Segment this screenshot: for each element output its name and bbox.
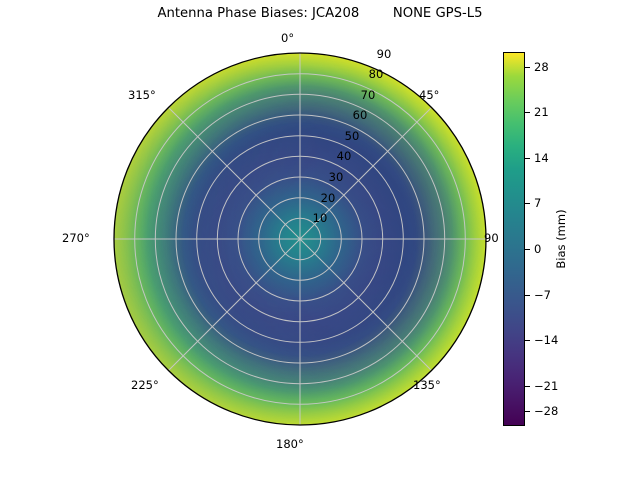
colorbar-label-neg7: −7 bbox=[534, 288, 551, 302]
colorbar-tick-28 bbox=[525, 67, 530, 68]
colorbar-label-14: 14 bbox=[534, 151, 549, 165]
radial-tick-30: 30 bbox=[329, 170, 344, 184]
radial-tick-70: 70 bbox=[361, 88, 376, 102]
radial-tick-80: 80 bbox=[369, 67, 384, 81]
radial-tick-40: 40 bbox=[337, 149, 352, 163]
polar-grid bbox=[114, 53, 486, 425]
colorbar[interactable]: 28 21 14 7 0 −7 −14 −21 −28 Bias (mm) bbox=[503, 52, 599, 426]
radial-tick-10: 10 bbox=[313, 211, 328, 225]
colorbar-gradient bbox=[503, 52, 525, 426]
radial-tick-20: 20 bbox=[321, 191, 336, 205]
colorbar-tick-neg14 bbox=[525, 340, 530, 341]
colorbar-axis-label: Bias (mm) bbox=[554, 209, 568, 268]
colorbar-label-7: 7 bbox=[534, 196, 541, 210]
colorbar-tick-7 bbox=[525, 203, 530, 204]
azimuth-tick-45: 45° bbox=[419, 88, 439, 102]
radial-tick-50: 50 bbox=[345, 129, 360, 143]
azimuth-tick-225: 225° bbox=[131, 378, 159, 392]
colorbar-tick-0 bbox=[525, 249, 530, 250]
polar-axes[interactable]: 10 20 30 40 50 60 70 80 90 bbox=[113, 52, 487, 426]
colorbar-tick-neg21 bbox=[525, 386, 530, 387]
figure-title: Antenna Phase Biases: JCA208 NONE GPS-L5 bbox=[0, 6, 640, 21]
colorbar-label-0: 0 bbox=[534, 242, 541, 256]
colorbar-tick-neg7 bbox=[525, 295, 530, 296]
azimuth-tick-90: 90 bbox=[484, 231, 499, 245]
colorbar-label-neg14: −14 bbox=[534, 333, 558, 347]
azimuth-tick-270: 270° bbox=[62, 231, 90, 245]
matplotlib-figure: Antenna Phase Biases: JCA208 NONE GPS-L5 bbox=[0, 0, 640, 480]
polar-plot-svg bbox=[113, 52, 487, 426]
azimuth-tick-180: 180° bbox=[276, 437, 304, 451]
azimuth-tick-315: 315° bbox=[128, 88, 156, 102]
azimuth-tick-135: 135° bbox=[413, 378, 441, 392]
colorbar-label-neg28: −28 bbox=[534, 404, 558, 418]
radial-tick-60: 60 bbox=[353, 108, 368, 122]
colorbar-label-neg21: −21 bbox=[534, 379, 558, 393]
colorbar-label-28: 28 bbox=[534, 60, 549, 74]
colorbar-tick-21 bbox=[525, 112, 530, 113]
azimuth-tick-0: 0° bbox=[281, 31, 294, 45]
colorbar-tick-14 bbox=[525, 158, 530, 159]
colorbar-tick-neg28 bbox=[525, 411, 530, 412]
radial-tick-90: 90 bbox=[377, 47, 392, 61]
colorbar-label-21: 21 bbox=[534, 105, 549, 119]
